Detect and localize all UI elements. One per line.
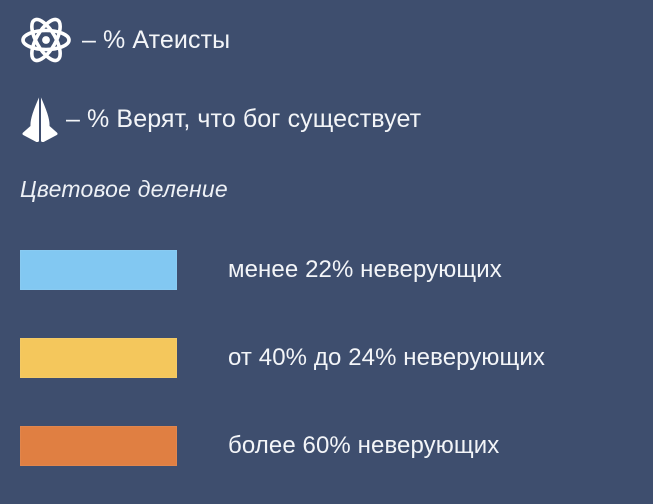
color-swatch-low — [20, 250, 177, 290]
color-division-row-low: менее 22% неверующих — [0, 240, 653, 328]
color-division-caption: Цветовое деление — [20, 176, 228, 203]
color-division-row-mid: от 40% до 24% неверующих — [0, 328, 653, 416]
color-division-list: менее 22% неверующих от 40% до 24% невер… — [0, 240, 653, 504]
praying-hands-icon — [20, 96, 60, 142]
color-division-label-low: менее 22% неверующих — [228, 250, 502, 290]
map-legend-panel: – % Атеисты – % Верят, что бог существуе… — [0, 0, 653, 498]
color-swatch-mid — [20, 338, 177, 378]
legend-symbol-label-believers: – % Верят, что бог существует — [66, 105, 421, 134]
color-division-label-high: более 60% неверующих — [228, 426, 499, 466]
atom-icon — [20, 16, 72, 64]
legend-symbol-row-atheists: – % Атеисты — [20, 16, 230, 64]
legend-symbol-row-believers: – % Верят, что бог существует — [20, 96, 421, 142]
color-division-label-mid: от 40% до 24% неверующих — [228, 338, 545, 378]
color-division-row-high: более 60% неверующих — [0, 416, 653, 504]
color-swatch-high — [20, 426, 177, 466]
legend-symbol-label-atheists: – % Атеисты — [82, 26, 230, 55]
